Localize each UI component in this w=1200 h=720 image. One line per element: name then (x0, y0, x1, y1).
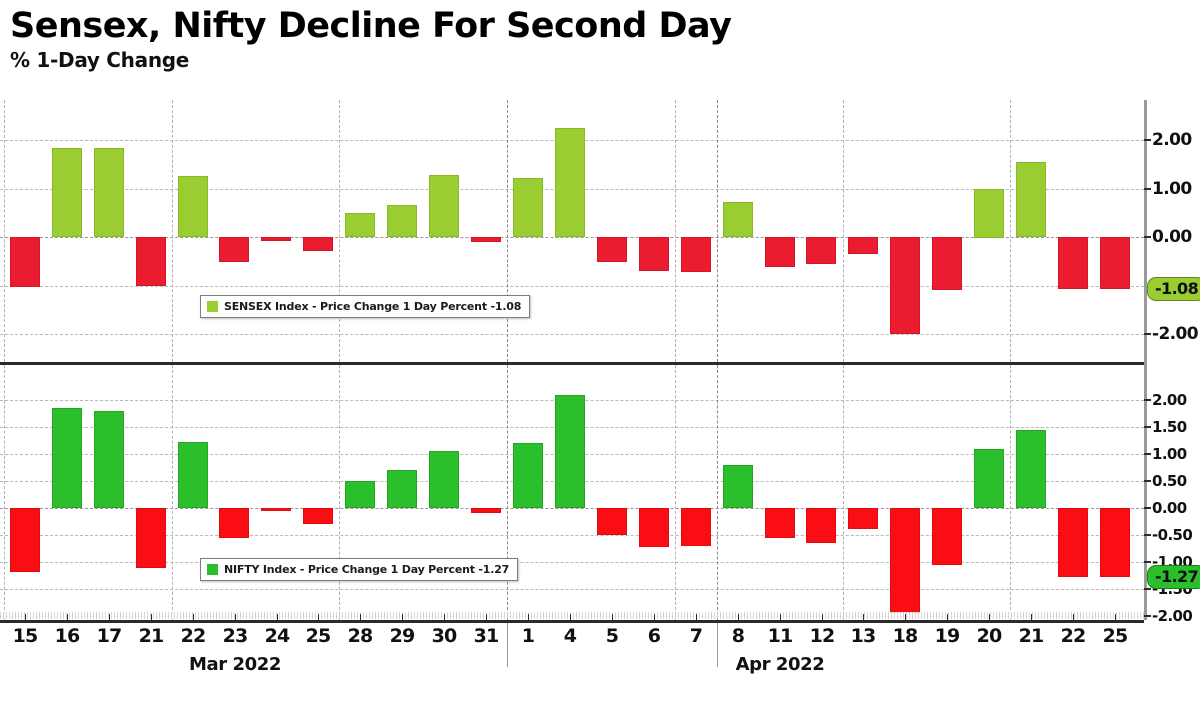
x-tick-mark (193, 614, 194, 620)
sensex-bar (513, 178, 543, 237)
month-label: Apr 2022 (736, 654, 825, 675)
x-tick-label: 29 (390, 625, 415, 647)
sensex-bar (136, 237, 166, 286)
nifty-bar (639, 508, 669, 547)
y-tick-label: 0.00 (1152, 499, 1187, 517)
x-tick-mark (822, 614, 823, 620)
nifty-bar (219, 508, 249, 538)
y-tick-label: 0.00 (1152, 227, 1192, 247)
y-tick-mark (1144, 188, 1151, 190)
sensex-bar (178, 176, 208, 237)
sensex-bar (219, 237, 249, 262)
y-tick-label: 2.00 (1152, 391, 1187, 409)
nifty-bar (974, 449, 1004, 508)
gridline-month-12 (507, 100, 508, 362)
sensex-color-swatch (207, 301, 218, 312)
x-axis-hatch (0, 612, 1144, 619)
x-tick-mark (235, 614, 236, 620)
legend-nifty[interactable]: NIFTY Index - Price Change 1 Day Percent… (200, 558, 518, 581)
y-tick-mark (1144, 453, 1151, 455)
chart-subtitle: % 1-Day Change (10, 48, 1110, 72)
month-label: Mar 2022 (189, 654, 281, 675)
sensex-bar (303, 237, 333, 251)
x-tick-mark (1115, 614, 1116, 620)
x-tick-label: 12 (810, 625, 835, 647)
nifty-bar (1100, 508, 1130, 577)
legend-nifty-label: NIFTY Index - Price Change 1 Day Percent… (224, 563, 509, 576)
x-tick-mark (780, 614, 781, 620)
nifty-bar (513, 443, 543, 508)
x-tick-mark (277, 614, 278, 620)
y-tick-label: -0.50 (1152, 526, 1192, 544)
x-tick-mark (109, 614, 110, 620)
gridline-x-20 (843, 100, 844, 362)
x-tick-label: 25 (306, 625, 331, 647)
y-tick-mark (1144, 333, 1151, 335)
legend-sensex-label: SENSEX Index - Price Change 1 Day Percen… (224, 300, 521, 313)
x-tick-label: 1 (522, 625, 534, 647)
x-tick-label: 5 (606, 625, 618, 647)
sensex-bar (10, 237, 40, 287)
sensex-panel: SENSEX Index - Price Change 1 Day Percen… (0, 100, 1144, 362)
nifty-bar (681, 508, 711, 546)
x-tick-label: 16 (55, 625, 80, 647)
sensex-bar (94, 148, 124, 237)
sensex-bar (848, 237, 878, 254)
nifty-bar (345, 481, 375, 508)
y-tick-mark (1144, 507, 1151, 509)
x-tick-mark (905, 614, 906, 620)
page-title: Sensex, Nifty Decline For Second Day (10, 6, 1110, 46)
x-tick-mark (738, 614, 739, 620)
gridline-month-17 (717, 100, 718, 362)
x-tick-mark (947, 614, 948, 620)
sensex-value-badge: -1.08 (1147, 277, 1200, 301)
gridline-x-4 (172, 365, 173, 620)
gridline-x-24 (1010, 365, 1011, 620)
sensex-bar (974, 189, 1004, 238)
y-tick-mark (1144, 615, 1151, 617)
x-tick-label: 23 (223, 625, 248, 647)
gridline-x-0 (4, 100, 5, 362)
chart-root: Sensex, Nifty Decline For Second Day % 1… (0, 0, 1200, 720)
nifty-value-badge: -1.27 (1147, 565, 1200, 589)
x-tick-label: 31 (474, 625, 499, 647)
nifty-bar (765, 508, 795, 538)
x-tick-mark (360, 614, 361, 620)
nifty-bar (136, 508, 166, 568)
month-divider (507, 623, 508, 667)
sensex-bar (555, 128, 585, 237)
sensex-bar (806, 237, 836, 264)
x-tick-label: 6 (648, 625, 660, 647)
gridline-x-0 (4, 365, 5, 620)
y-tick-mark (1144, 236, 1151, 238)
gridline-month-12 (507, 365, 508, 620)
nifty-bar (178, 442, 208, 508)
x-tick-label: 19 (935, 625, 960, 647)
y-axis: 2.001.000.00-2.00 2.001.501.000.500.00-0… (1144, 100, 1200, 620)
y-tick-label: -2.00 (1152, 607, 1192, 625)
sensex-bar (681, 237, 711, 272)
y-axis-spine (1144, 100, 1147, 620)
nifty-color-swatch (207, 564, 218, 575)
nifty-bar (555, 395, 585, 508)
legend-sensex[interactable]: SENSEX Index - Price Change 1 Day Percen… (200, 295, 530, 318)
y-tick-label: 1.50 (1152, 418, 1187, 436)
y-tick-mark (1144, 426, 1151, 428)
sensex-bar (639, 237, 669, 271)
x-tick-label: 15 (13, 625, 38, 647)
sensex-bar (1058, 237, 1088, 289)
y-tick-mark (1144, 561, 1151, 563)
y-tick-mark (1144, 139, 1151, 141)
y-tick-label: 1.00 (1152, 445, 1187, 463)
x-tick-label: 22 (181, 625, 206, 647)
plot-area: SENSEX Index - Price Change 1 Day Percen… (0, 100, 1144, 620)
x-tick-mark (570, 614, 571, 620)
x-tick-mark (1073, 614, 1074, 620)
x-tick-label: 18 (893, 625, 918, 647)
nifty-bar (429, 451, 459, 508)
nifty-panel: NIFTY Index - Price Change 1 Day Percent… (0, 365, 1144, 620)
x-tick-label: 4 (564, 625, 576, 647)
sensex-bar (890, 237, 920, 334)
x-tick-label: 13 (851, 625, 876, 647)
nifty-bar (52, 408, 82, 508)
gridline-x-24 (1010, 100, 1011, 362)
nifty-bar (848, 508, 878, 529)
x-tick-mark (989, 614, 990, 620)
nifty-bar (471, 508, 501, 513)
x-tick-label: 20 (977, 625, 1002, 647)
nifty-bar (1016, 430, 1046, 508)
nifty-bar (806, 508, 836, 543)
x-tick-label: 30 (432, 625, 457, 647)
gridline-month-17 (717, 365, 718, 620)
x-tick-label: 7 (690, 625, 702, 647)
sensex-bar (1016, 162, 1046, 237)
x-tick-label: 25 (1103, 625, 1128, 647)
x-tick-label: 21 (139, 625, 164, 647)
nifty-bar (387, 470, 417, 508)
sensex-bar (387, 205, 417, 237)
x-tick-mark (25, 614, 26, 620)
x-tick-mark (67, 614, 68, 620)
x-tick-mark (654, 614, 655, 620)
y-tick-label: 1.00 (1152, 179, 1192, 199)
sensex-bar (765, 237, 795, 267)
month-divider (717, 623, 718, 667)
x-tick-mark (528, 614, 529, 620)
chart-header: Sensex, Nifty Decline For Second Day % 1… (10, 6, 1110, 72)
x-tick-mark (863, 614, 864, 620)
y-tick-mark (1144, 399, 1151, 401)
y-tick-mark (1144, 588, 1151, 590)
x-tick-label: 8 (732, 625, 744, 647)
sensex-bar (52, 148, 82, 237)
gridline-x-16 (675, 100, 676, 362)
x-tick-label: 24 (265, 625, 290, 647)
x-tick-mark (444, 614, 445, 620)
nifty-bar (94, 411, 124, 508)
y-tick-label: -2.00 (1152, 324, 1198, 344)
y-tick-mark (1144, 534, 1151, 536)
nifty-bar (303, 508, 333, 524)
x-tick-label: 21 (1019, 625, 1044, 647)
nifty-bar (932, 508, 962, 565)
y-tick-label: 2.00 (1152, 130, 1192, 150)
gridline-x-16 (675, 365, 676, 620)
sensex-bar (723, 202, 753, 237)
x-tick-mark (151, 614, 152, 620)
x-tick-label: 17 (97, 625, 122, 647)
nifty-bar (1058, 508, 1088, 577)
nifty-bar (261, 508, 291, 511)
x-tick-mark (318, 614, 319, 620)
x-axis: 1516172122232425282930311456781112131819… (0, 620, 1144, 684)
nifty-bar (597, 508, 627, 535)
y-tick-label: 0.50 (1152, 472, 1187, 490)
sensex-bar (261, 237, 291, 241)
x-tick-label: 22 (1061, 625, 1086, 647)
sensex-bar (932, 237, 962, 290)
x-tick-label: 11 (768, 625, 793, 647)
x-tick-label: 28 (348, 625, 373, 647)
y-tick-mark (1144, 480, 1151, 482)
sensex-bar (597, 237, 627, 262)
nifty-bar (723, 465, 753, 508)
gridline-x-8 (339, 365, 340, 620)
sensex-bar (1100, 237, 1130, 289)
sensex-bar (471, 237, 501, 242)
x-tick-mark (402, 614, 403, 620)
nifty-bar (10, 508, 40, 572)
gridline-x-8 (339, 100, 340, 362)
sensex-bar (345, 213, 375, 237)
gridline-x-20 (843, 365, 844, 620)
x-tick-mark (486, 614, 487, 620)
x-tick-mark (612, 614, 613, 620)
x-tick-mark (1031, 614, 1032, 620)
x-tick-mark (696, 614, 697, 620)
gridline-x-4 (172, 100, 173, 362)
x-axis-spine (0, 620, 1144, 623)
nifty-bar (890, 508, 920, 613)
sensex-bar (429, 175, 459, 237)
